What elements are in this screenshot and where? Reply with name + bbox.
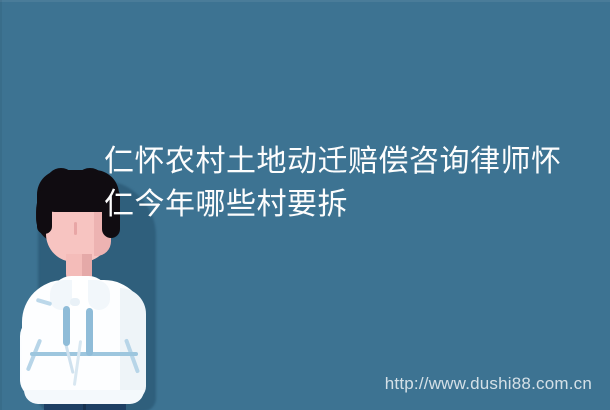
- headline-title: 仁怀农村土地动迁赔偿咨询律师怀仁今年哪些村要拆: [104, 140, 572, 226]
- hoodie-hem: [24, 390, 144, 404]
- drawstring-left: [63, 306, 70, 346]
- top-edge-highlight: [0, 0, 610, 2]
- collar-knot: [70, 298, 80, 306]
- hood-fold-left: [50, 280, 72, 310]
- hoodie-body-shadow: [120, 288, 146, 400]
- hood-fold-right: [88, 280, 110, 310]
- hair-sideburn-left: [37, 190, 52, 234]
- hoodie-pocket-line: [30, 352, 138, 356]
- hair-peak-left: [46, 168, 76, 190]
- nose-shape: [74, 222, 77, 235]
- left-edge-shade: [0, 0, 2, 410]
- drawstring-right: [86, 308, 93, 356]
- site-url-watermark: http://www.dushi88.com.cn: [385, 374, 592, 394]
- article-thumbnail-banner: 仁怀农村土地动迁赔偿咨询律师怀仁今年哪些村要拆 http://www.dushi…: [0, 0, 610, 410]
